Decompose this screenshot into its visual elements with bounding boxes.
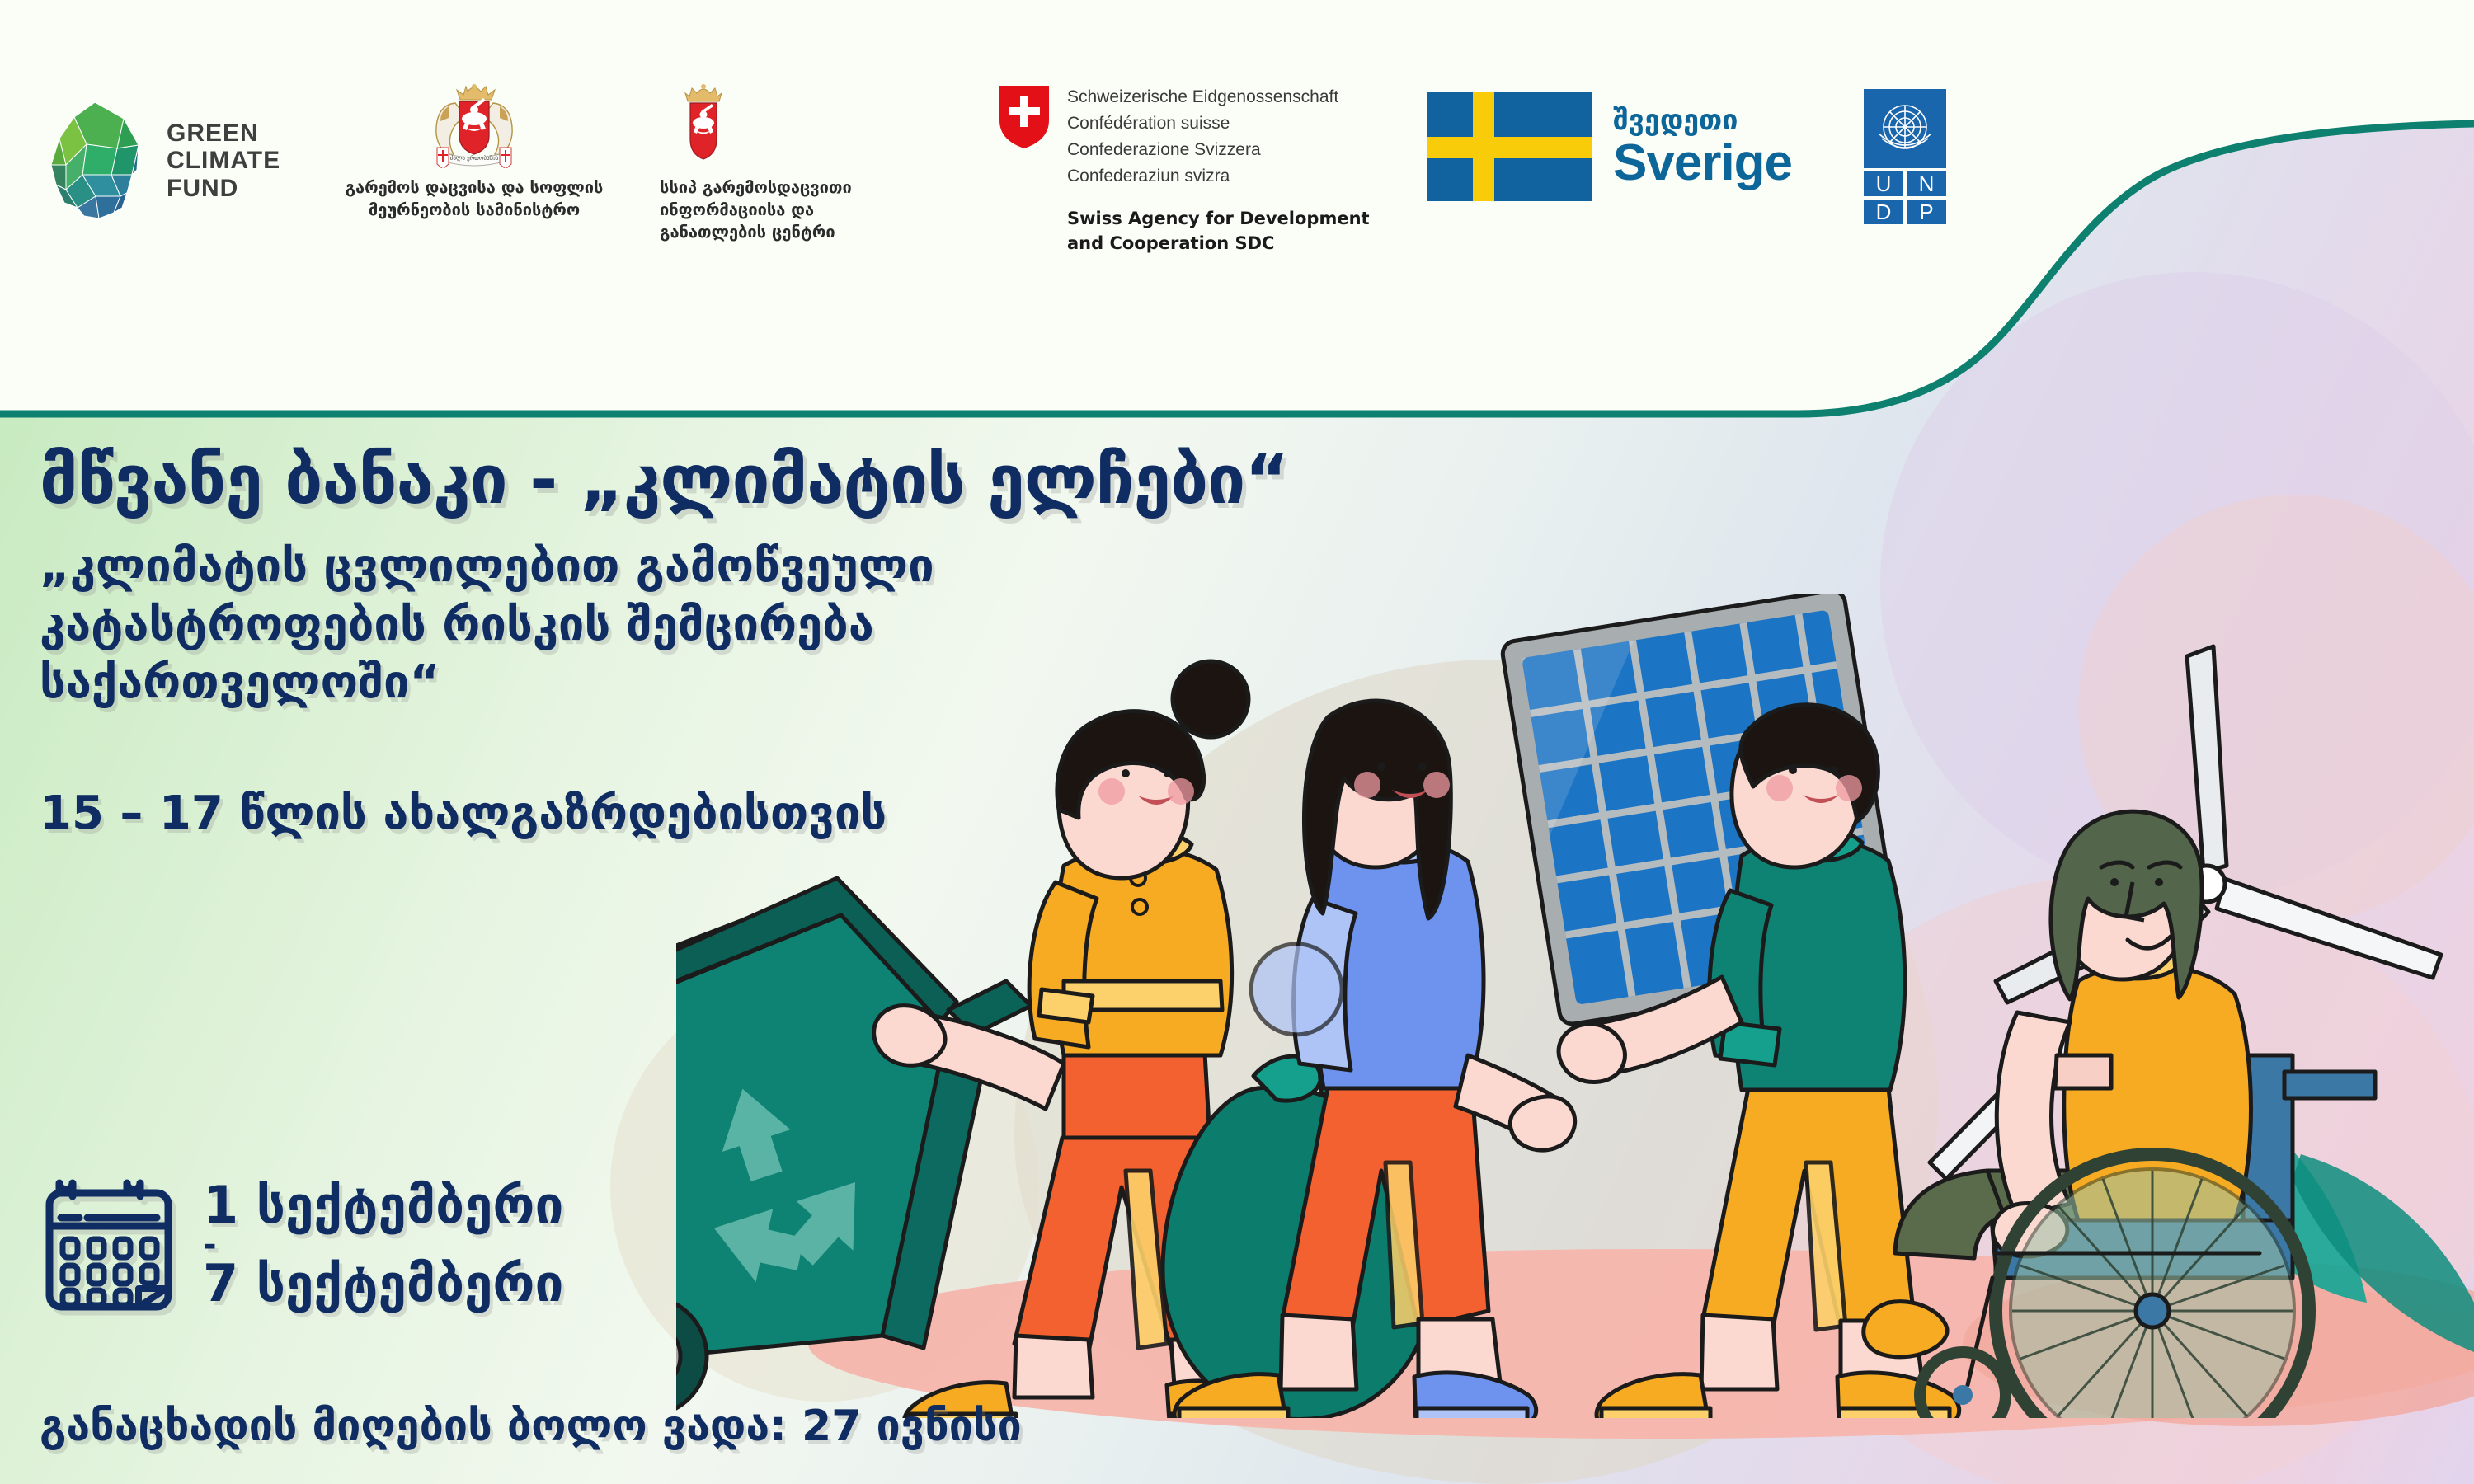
swiss-shield-icon — [998, 84, 1051, 150]
georgia-coat-of-arms-icon: ძალა ერთობაშია — [412, 82, 536, 168]
svg-text:ძალა ერთობაშია: ძალა ერთობაშია — [450, 154, 499, 162]
logo-sweden: შვედეთი Sverige — [1427, 92, 1792, 201]
camp-dates: 1 სექტემბერი - 7 სექტემბერი — [203, 1178, 563, 1312]
application-deadline: განაცხადის მიღების ბოლო ვადა: 27 ივნისი — [40, 1402, 1022, 1451]
date-row: 1 სექტემბერი - 7 სექტემბერი — [43, 1175, 563, 1315]
gcf-line-1: GREEN — [167, 120, 280, 148]
sdc-line-it: Confederazione Svizzera — [1067, 137, 1370, 163]
sweden-georgian-name: შვედეთი — [1613, 106, 1792, 134]
logo-green-climate-fund: GREEN CLIMATE FUND — [41, 99, 280, 223]
project-subtitle: „კლიმატის ცვლილებით გამოწვეული კატასტროფ… — [40, 538, 1219, 712]
svg-text:U: U — [1876, 171, 1892, 196]
calendar-icon — [43, 1175, 175, 1315]
gcf-line-2: CLIMATE — [167, 147, 280, 175]
recycling-bin — [676, 878, 1031, 1416]
sdc-agency-line-2: and Cooperation SDC — [1067, 231, 1370, 256]
gcf-line-3: FUND — [167, 175, 280, 203]
age-group-text: 15 – 17 წლის ახალგაზრდებისთვის — [40, 785, 1606, 843]
main-copy: მწვანე ბანაკი - „კლიმატის ელჩები“ „კლიმა… — [40, 445, 1606, 843]
sdc-agency-line-1: Swiss Agency for Development — [1067, 206, 1370, 231]
date-start: 1 სექტემბერი — [203, 1178, 563, 1233]
logo-bar: GREEN CLIMATE FUND — [0, 66, 2062, 247]
gcf-orb-icon — [41, 99, 148, 223]
svg-text:D: D — [1876, 200, 1892, 224]
person-wheelchair — [1864, 811, 2375, 1418]
sdc-line-de: Schweizerische Eidgenossenschaft — [1067, 84, 1370, 110]
poster-root: .ln{stroke:#1b1b1b;stroke-width:5;stroke… — [0, 0, 2474, 1484]
svg-text:P: P — [1919, 200, 1933, 224]
sdc-agency-name: Swiss Agency for Development and Coopera… — [1067, 206, 1370, 256]
sdc-language-lines: Schweizerische Eidgenossenschaft Confédé… — [1067, 84, 1370, 190]
svg-text:N: N — [1919, 171, 1935, 196]
logo-ministry-of-environment: ძალა ერთობაშია გარემოს დაცვისა და სოფლის… — [330, 79, 618, 221]
date-end: 7 სექტემბერი — [203, 1256, 563, 1312]
logo-undp: UN DP — [1864, 89, 1946, 228]
logo-environmental-education-center: სსიპ გარემოსდაცვითიინფორმაციისა დაგანათლ… — [660, 79, 940, 243]
eiec-label: სსიპ გარემოსდაცვითიინფორმაციისა დაგანათლ… — [660, 176, 940, 243]
georgia-emblem-small-icon — [675, 82, 732, 168]
sweden-flag-icon — [1427, 92, 1592, 201]
logo-swiss-sdc: Schweizerische Eidgenossenschaft Confédé… — [998, 84, 1370, 256]
sweden-wordmark: Sverige — [1613, 139, 1792, 188]
page-title: მწვანე ბანაკი - „კლიმატის ელჩები“ — [40, 445, 1606, 516]
undp-logo-icon: UN DP — [1864, 89, 1946, 224]
sdc-line-fr: Confédération suisse — [1067, 110, 1370, 137]
gcf-wordmark: GREEN CLIMATE FUND — [167, 120, 280, 203]
ministry-label: გარემოს დაცვისა და სოფლისმეურნეობის სამი… — [330, 176, 618, 221]
sdc-line-rm: Confederaziun svizra — [1067, 163, 1370, 190]
